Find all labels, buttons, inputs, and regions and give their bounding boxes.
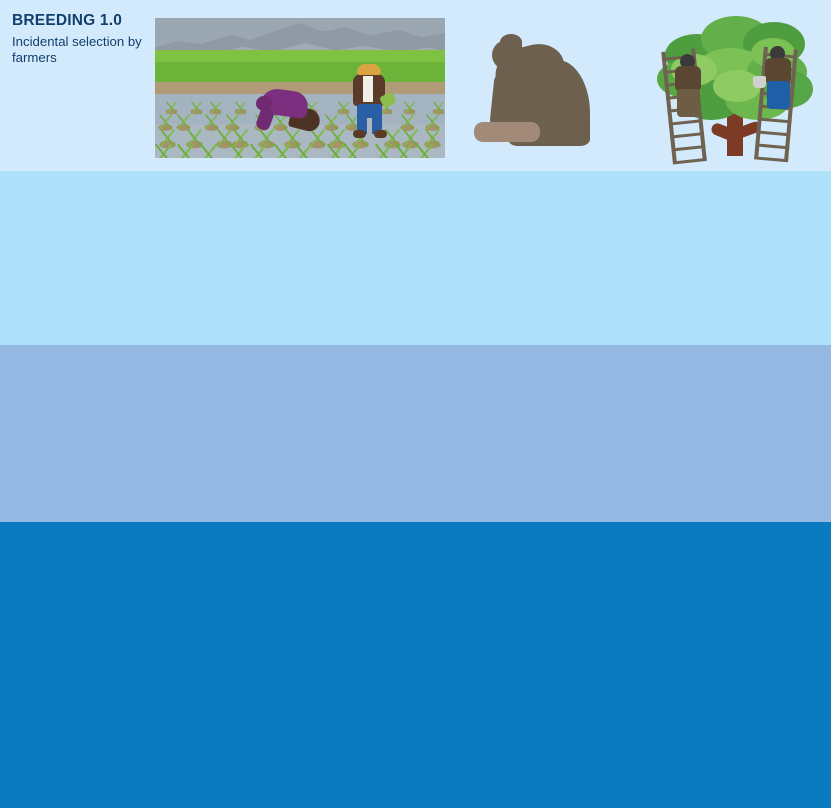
rice-seedling-tuft: [426, 114, 438, 129]
ladder-rung: [673, 158, 707, 165]
farmer-standing-shoe-right: [374, 130, 387, 138]
farmer-bending-head: [256, 96, 272, 111]
rice-seedling-tuft: [217, 129, 231, 147]
grinding-stone: [474, 122, 540, 142]
rice-seedling-tuft: [200, 144, 216, 158]
rice-seedling-tuft: [274, 144, 290, 158]
ladder-rung: [669, 119, 703, 126]
harvester-left-bottom: [677, 89, 700, 117]
rice-seedling-tuft: [433, 102, 443, 115]
farmer-standing-shoe-left: [353, 130, 366, 138]
rice-seedling-tuft: [295, 144, 311, 158]
rice-seedling-tuft: [156, 144, 172, 158]
rice-seedling-tuft: [236, 102, 246, 115]
farmer-standing-leg-gap: [367, 118, 372, 136]
rice-seedling-tuft: [177, 114, 189, 129]
ladder-rung: [671, 145, 705, 152]
harvester-right-bottom: [767, 81, 790, 109]
rice-seedling-tuft: [395, 144, 411, 158]
panel-1-heading: BREEDING 1.0: [12, 12, 152, 29]
rice-seedling-tuft: [166, 102, 176, 115]
ladder-rung: [756, 130, 790, 136]
rice-seedling-tuft: [338, 102, 348, 115]
rice-seedling-tuft: [230, 144, 246, 158]
tree-harvest-ladders-illustration: [655, 8, 825, 166]
grinding-woman-head: [492, 40, 522, 70]
infographic-poster: BREEDING 1.0 Incidental selection by far…: [0, 0, 831, 808]
harvester-left: [671, 54, 705, 120]
harvester-right: [761, 46, 795, 112]
rice-seedling-tuft: [328, 144, 344, 158]
harvest-bucket: [753, 76, 766, 88]
ladder-rung: [755, 143, 789, 149]
rice-seedling-tuft: [402, 114, 414, 129]
rice-seedling-tuft: [404, 102, 414, 115]
farmer-standing: [351, 64, 397, 148]
ladder-rung: [670, 132, 704, 139]
ladder-rung: [757, 117, 791, 123]
panel-breeding-2: BREEDING 2.0 Statistical and experimenta…: [0, 171, 831, 345]
rice-seedling-tuft: [178, 144, 194, 158]
ladder-rung: [754, 156, 788, 162]
rice-seedling-tuft: [191, 102, 201, 115]
panel-1-body: Incidental selection by farmers: [12, 34, 152, 65]
rice-seedling-tuft: [227, 114, 239, 129]
farmer-bending-purple: [260, 90, 324, 142]
panel-breeding-3: BREEDING 3.0 Integration of genetic and …: [0, 345, 831, 522]
rice-paddy-farmers-illustration: [155, 18, 445, 158]
rice-seedling-tuft: [159, 114, 171, 129]
panel-breeding-4: BREEDING 4.0 Ability to combine any know…: [0, 522, 831, 808]
farmer-standing-hat: [357, 64, 381, 75]
panel-1-text: BREEDING 1.0 Incidental selection by far…: [12, 12, 152, 65]
rice-seedling-tuft: [325, 114, 337, 129]
rice-seedling-tuft: [210, 102, 220, 115]
woman-grinding-grain-silhouette: [466, 18, 626, 163]
rice-seedling-tuft: [417, 144, 433, 158]
rice-seedling-tuft: [205, 114, 217, 129]
rice-seedling-tuft: [250, 144, 266, 158]
farmer-standing-coat-opening: [363, 76, 373, 102]
panel-breeding-1: BREEDING 1.0 Incidental selection by far…: [0, 0, 831, 171]
